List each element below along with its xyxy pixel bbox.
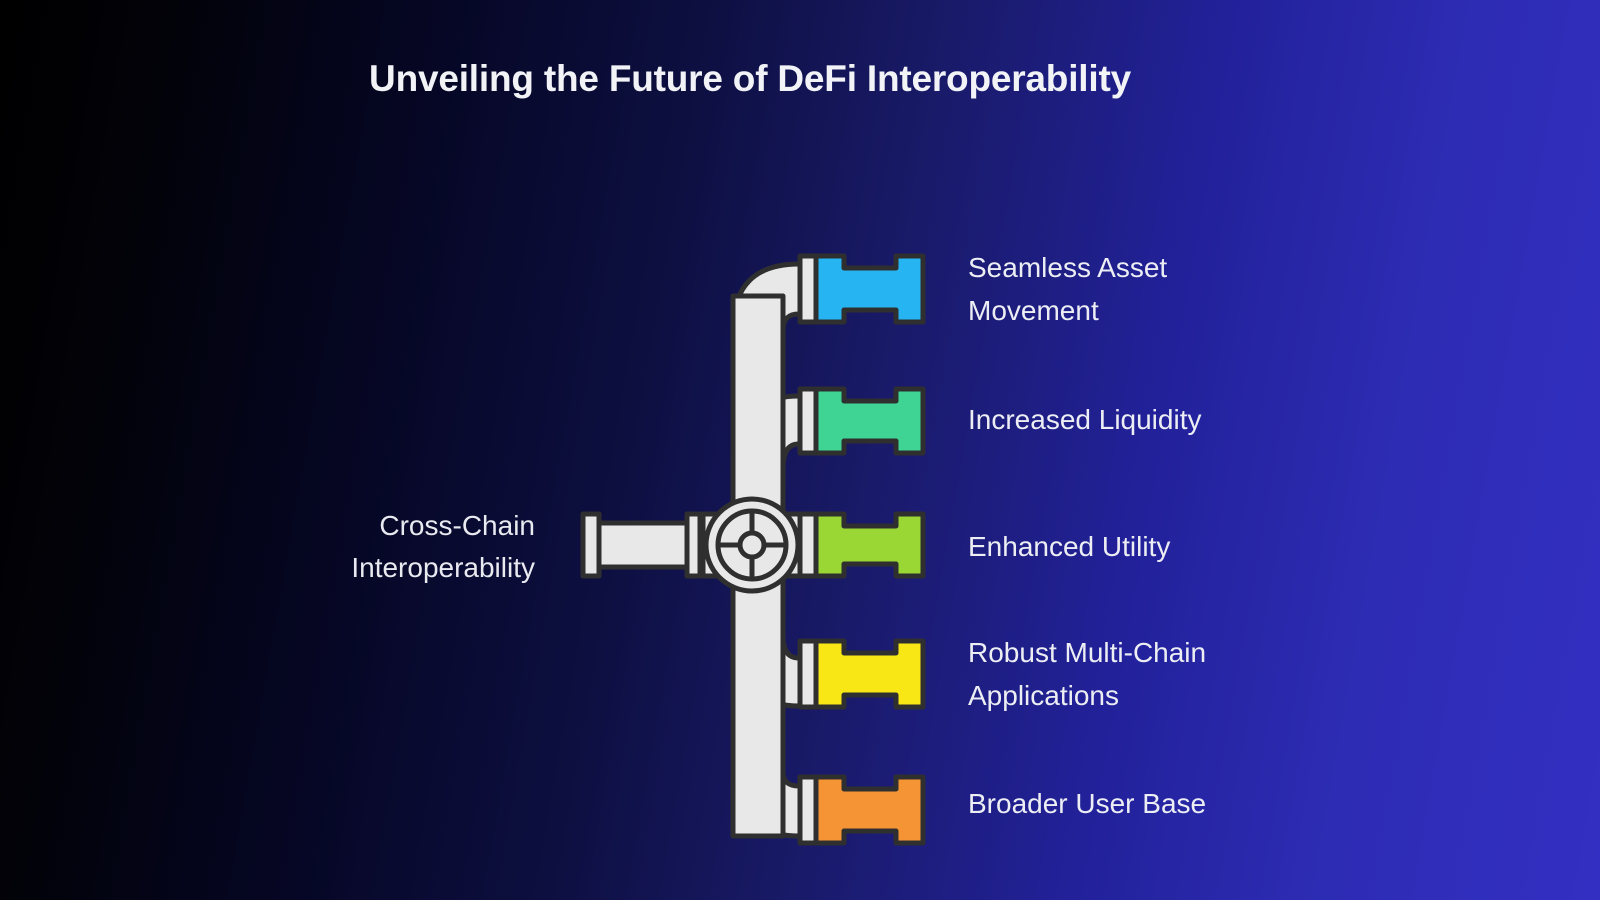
branch-pipe-5 <box>816 777 923 843</box>
branch-segment-seamless-asset-movement <box>800 256 923 322</box>
benefit-line: Applications <box>968 674 1298 717</box>
colored-branch-segments <box>800 256 923 843</box>
benefit-line: Movement <box>968 289 1298 332</box>
branch-pipe-2 <box>816 389 923 453</box>
benefit-line: Robust Multi-Chain <box>968 631 1298 674</box>
inlet-left-flange <box>583 514 599 576</box>
benefit-line: Enhanced Utility <box>968 525 1298 568</box>
branch-pipe-3 <box>816 514 923 576</box>
benefit-label-broader-user-base: Broader User Base <box>968 782 1298 825</box>
branch-segment-robust-multi-chain-applications <box>800 641 923 707</box>
valve-wheel-icon <box>706 499 798 591</box>
benefit-label-increased-liquidity: Increased Liquidity <box>968 398 1298 441</box>
benefit-line: Broader User Base <box>968 782 1298 825</box>
branch-pipe-4 <box>816 641 923 707</box>
infographic-canvas: Unveiling the Future of DeFi Interoperab… <box>0 0 1600 900</box>
inlet-collar-band-1 <box>687 514 700 576</box>
benefit-label-enhanced-utility: Enhanced Utility <box>968 525 1298 568</box>
branch-segment-broader-user-base <box>800 777 923 843</box>
pipe-manifold-diagram: .pipe { fill:#e8e8e8; stroke:#2f2f2f; st… <box>0 0 1600 900</box>
branch-segment-enhanced-utility <box>800 514 923 576</box>
benefit-line: Increased Liquidity <box>968 398 1298 441</box>
inlet-pipe-group <box>583 514 716 576</box>
branch-segment-increased-liquidity <box>800 389 923 453</box>
branch-pipe-1 <box>816 256 923 322</box>
benefit-label-seamless-asset-movement: Seamless Asset Movement <box>968 246 1298 332</box>
benefit-label-robust-multi-chain-applications: Robust Multi-Chain Applications <box>968 631 1298 717</box>
benefit-line: Seamless Asset <box>968 246 1298 289</box>
